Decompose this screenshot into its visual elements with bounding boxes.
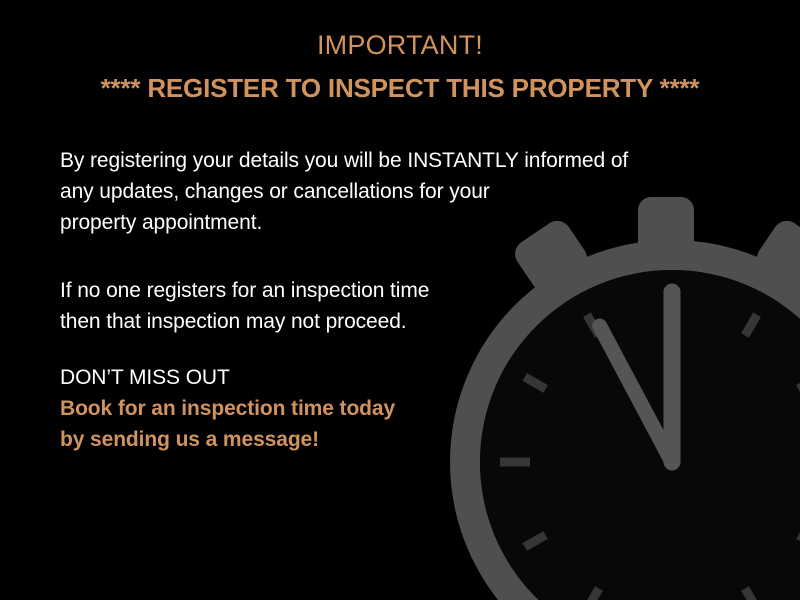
paragraph-no-registration-warning: If no one registers for an inspection ti… bbox=[60, 275, 429, 337]
cta-heading: DON’T MISS OUT bbox=[60, 362, 395, 393]
headline-important: IMPORTANT! bbox=[0, 30, 800, 61]
cta-line: Book for an inspection time today bbox=[60, 393, 395, 424]
slide-content: IMPORTANT! **** REGISTER TO INSPECT THIS… bbox=[0, 0, 800, 600]
promo-slide: IMPORTANT! **** REGISTER TO INSPECT THIS… bbox=[0, 0, 800, 600]
paragraph-line: then that inspection may not proceed. bbox=[60, 306, 429, 337]
paragraph-registering-benefits: By registering your details you will be … bbox=[60, 145, 628, 238]
paragraph-line: If no one registers for an inspection ti… bbox=[60, 275, 429, 306]
paragraph-line: By registering your details you will be … bbox=[60, 145, 628, 176]
headline-register-to-inspect: **** REGISTER TO INSPECT THIS PROPERTY *… bbox=[0, 74, 800, 104]
call-to-action-block: DON’T MISS OUT Book for an inspection ti… bbox=[60, 362, 395, 455]
paragraph-line: any updates, changes or cancellations fo… bbox=[60, 176, 628, 207]
paragraph-line: property appointment. bbox=[60, 207, 628, 238]
cta-line: by sending us a message! bbox=[60, 424, 395, 455]
